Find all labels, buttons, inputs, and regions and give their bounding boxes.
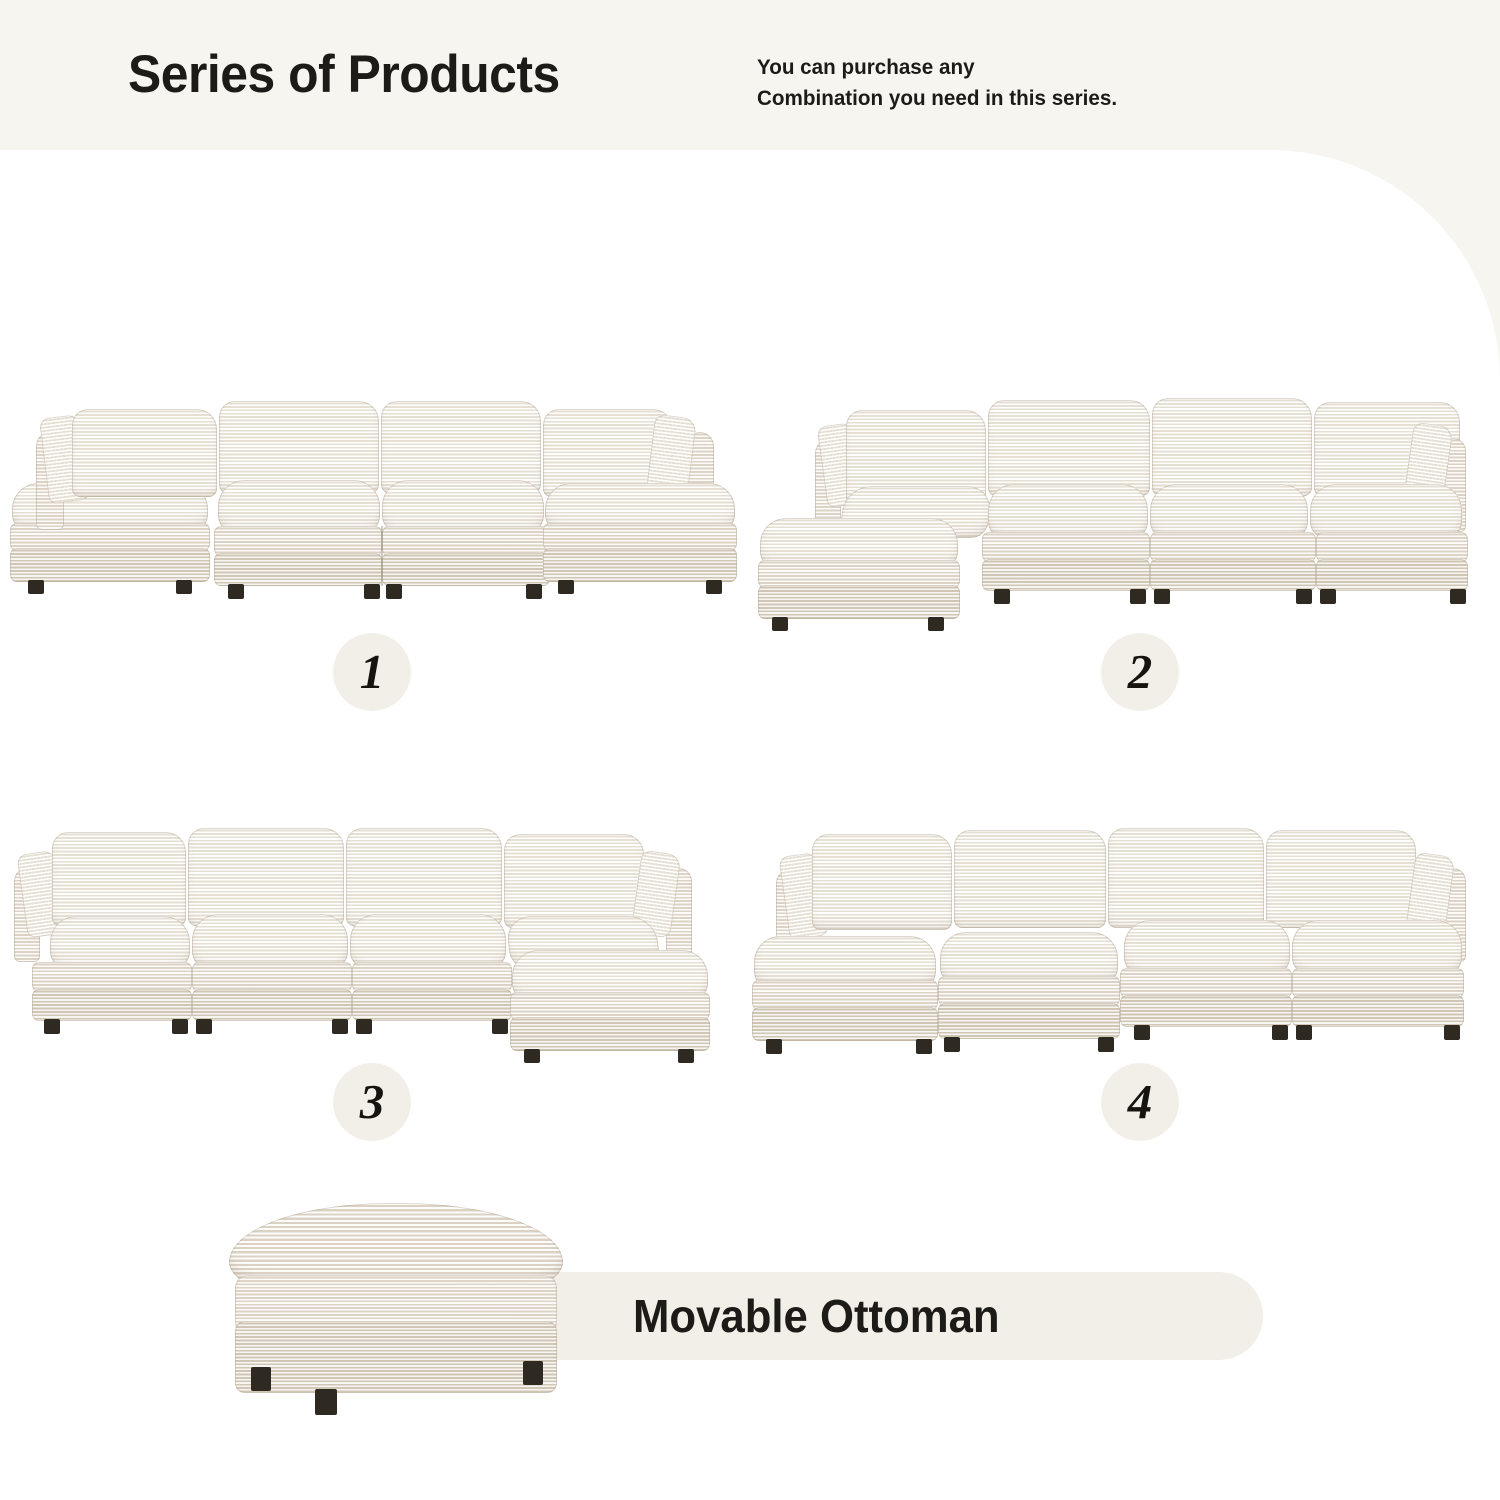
seat-base-lower-4-1 [1120, 995, 1292, 1027]
ottoman-base-lower-3 [510, 1017, 710, 1051]
ottoman-left-base-lower [10, 548, 210, 582]
seat-cushion-3-3 [350, 914, 506, 968]
seat-foot-2-a [994, 589, 1010, 604]
seat-foot-2-c [1154, 589, 1170, 604]
page-title: Series of Products [128, 44, 560, 105]
seat-base-lower-3-1 [32, 989, 192, 1021]
badge-configuration-2: 2 [1101, 633, 1179, 711]
ottoman-right-foot-b [706, 580, 722, 594]
seat-foot-2-f [1450, 589, 1466, 604]
ottoman-foot-3-b [678, 1049, 694, 1063]
seat-foot-c [386, 584, 402, 599]
seat-base-upper-3-1 [32, 962, 192, 992]
ottoman-right-foot-a [558, 580, 574, 594]
seat-foot-3-f [492, 1019, 508, 1034]
ottoman-foot-3-a [524, 1049, 540, 1063]
seat-cushion-2-1 [988, 484, 1148, 538]
back-cushion-3-2 [188, 828, 344, 926]
ottoman-foot-2-a [772, 617, 788, 631]
seat-base-upper-3-3 [352, 962, 512, 992]
back-cushion-1 [72, 409, 217, 497]
back-cushion-3-3 [346, 828, 502, 926]
page-subtitle: You can purchase any Combination you nee… [757, 52, 1117, 113]
ottoman-foot-2-b [928, 617, 944, 631]
seat-base-upper-4-1 [1120, 968, 1292, 998]
ottoman-right-base-upper [543, 523, 737, 551]
corner-back-cushion-3 [504, 834, 644, 928]
seat-base-upper-2 [382, 526, 550, 556]
seat-foot-b [364, 584, 380, 599]
seat-foot-2-e [1320, 589, 1336, 604]
seat-base-lower-4-2 [1292, 995, 1464, 1027]
back-cushion-3-1 [52, 832, 186, 926]
seat-foot-4-a [1134, 1025, 1150, 1040]
configuration-2[interactable]: 2 [750, 380, 1500, 620]
ottoman-foot-4-d [1098, 1037, 1114, 1052]
seat-cushion-3-1 [50, 916, 190, 968]
ottoman-left-foot-b [176, 580, 192, 594]
back-cushion-4-1 [812, 834, 952, 930]
seat-cushion-2-2 [1150, 484, 1308, 538]
seat-foot-3-c [196, 1019, 212, 1034]
seat-base-lower-2 [382, 553, 550, 586]
seat-foot-2-b [1130, 589, 1146, 604]
seat-base-upper-3-2 [192, 962, 352, 992]
seat-cushion-4-2 [1292, 920, 1462, 974]
ottoman-hero-foot-front [315, 1389, 337, 1415]
seat-foot-3-d [332, 1019, 348, 1034]
seat-foot-4-b [1272, 1025, 1288, 1040]
badge-configuration-3: 3 [333, 1063, 411, 1141]
seat-foot-3-b [172, 1019, 188, 1034]
back-cushion-2-1 [988, 400, 1150, 496]
ottoman-base-lower-2 [758, 585, 960, 619]
seat-cushion-3-2 [192, 914, 348, 968]
back-cushion-4-2 [954, 830, 1106, 928]
ottoman-hero-foot-right [523, 1361, 543, 1385]
ottoman-right-base-lower [543, 548, 737, 582]
seat-base-upper-4-2 [1292, 968, 1464, 998]
seat-foot-2-d [1296, 589, 1312, 604]
movable-ottoman-label: Movable Ottoman [633, 1289, 1000, 1343]
seat-foot-4-c [1296, 1025, 1312, 1040]
seat-foot-3-a [44, 1019, 60, 1034]
ottoman-foot-4-a [766, 1039, 782, 1054]
ottoman-base-upper-4-1 [752, 980, 938, 1010]
seat-cushion-4-1 [1124, 920, 1290, 974]
seat-base-upper-1 [214, 526, 382, 556]
seat-base-lower-1 [214, 553, 382, 586]
seat-foot-4-d [1444, 1025, 1460, 1040]
movable-ottoman-product[interactable] [215, 1195, 575, 1425]
configuration-1[interactable]: 1 [0, 380, 750, 620]
seat-base-upper-2-3 [1316, 532, 1468, 562]
badge-configuration-1: 1 [333, 633, 411, 711]
back-cushion-2-2 [1152, 398, 1312, 496]
module-seam-center [381, 526, 383, 586]
ottoman-hero-foot-left [251, 1367, 271, 1391]
ottoman-base-lower-4-1 [752, 1007, 938, 1041]
seat-foot-a [228, 584, 244, 599]
configuration-4[interactable]: 4 [750, 810, 1500, 1050]
seat-base-upper-2-2 [1150, 532, 1316, 562]
seat-base-lower-2-3 [1316, 559, 1468, 591]
ottoman-base-lower-4-2 [938, 1003, 1120, 1039]
configuration-3[interactable]: 3 [0, 810, 750, 1050]
ottoman-foot-4-c [944, 1037, 960, 1052]
ottoman-base-upper-3 [510, 992, 710, 1020]
seat-foot-3-e [356, 1019, 372, 1034]
back-cushion-4-3 [1108, 828, 1264, 928]
seat-base-lower-3-3 [352, 989, 512, 1021]
seat-base-lower-2-2 [1150, 559, 1316, 591]
seat-cushion-2 [382, 480, 544, 532]
movable-ottoman-banner: Movable Ottoman [515, 1272, 1263, 1360]
ottoman-base-upper-2 [758, 560, 960, 588]
seat-cushion-2-3 [1310, 484, 1462, 538]
seat-base-lower-2-1 [982, 559, 1150, 591]
seat-cushion-1 [218, 480, 380, 532]
seat-base-upper-2-1 [982, 532, 1150, 562]
seat-base-lower-3-2 [192, 989, 352, 1021]
badge-configuration-4: 4 [1101, 1063, 1179, 1141]
back-cushion-4-4 [1266, 830, 1416, 928]
ottoman-hero-base-lower [235, 1321, 557, 1393]
seat-foot-d [526, 584, 542, 599]
ottoman-foot-4-b [916, 1039, 932, 1054]
ottoman-left-foot-a [28, 580, 44, 594]
ottoman-base-upper-4-2 [938, 976, 1120, 1006]
infographic-page: Series of Products You can purchase any … [0, 0, 1500, 1500]
